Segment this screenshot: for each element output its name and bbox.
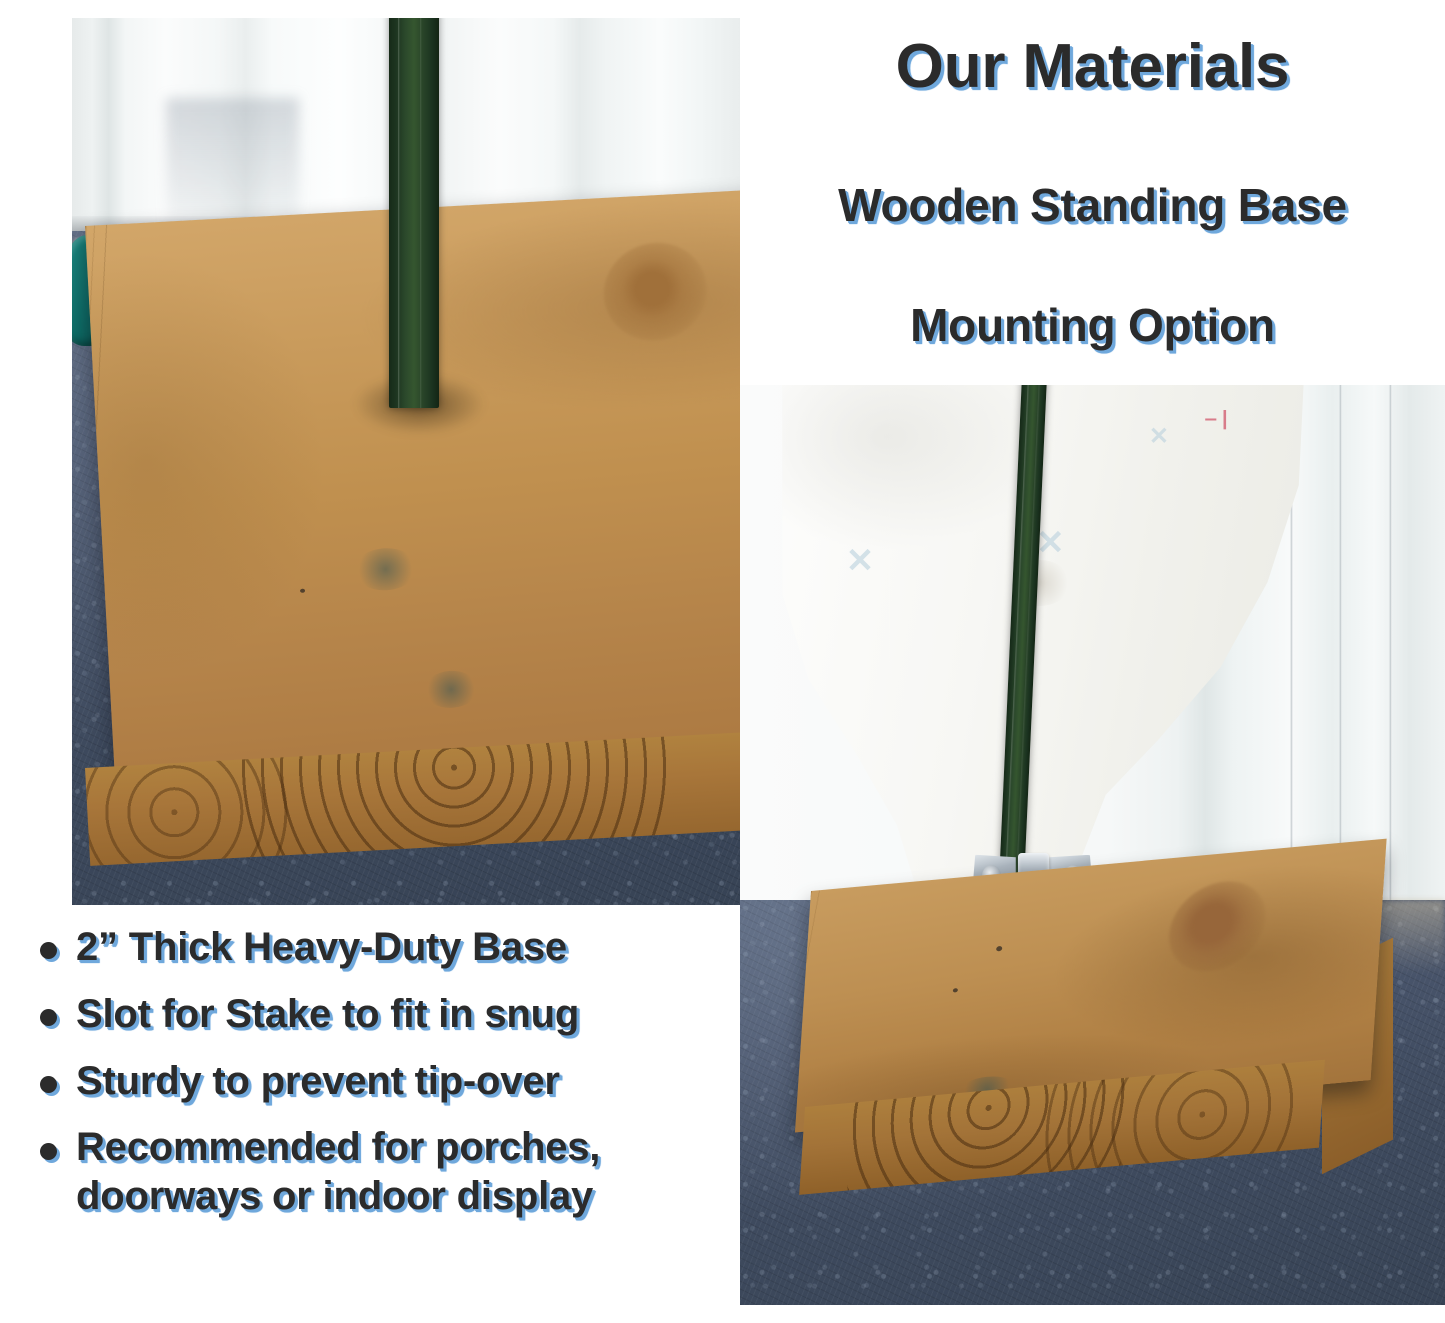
list-item: 2” Thick Heavy-Duty Base xyxy=(62,923,752,972)
page-title: Our Materials xyxy=(740,34,1445,99)
bottom-strip-panel xyxy=(740,1305,1445,1323)
list-item: Sturdy to prevent tip-over xyxy=(62,1057,752,1106)
left-margin-panel xyxy=(0,0,72,905)
stake-ridge xyxy=(420,18,422,408)
pencil-x-mark: ✕ xyxy=(846,541,875,581)
list-item: Slot for Stake to fit in snug xyxy=(62,990,752,1039)
red-pencil-mark: ‒ | xyxy=(1205,408,1227,431)
subtitle-line-1: Wooden Standing Base xyxy=(740,180,1445,231)
list-item: Recommended for porches, doorways or ind… xyxy=(62,1123,752,1221)
pencil-x-mark: ✕ xyxy=(1149,422,1169,451)
photo-wooden-base-closeup xyxy=(72,18,740,905)
stake-ridge xyxy=(398,18,400,408)
product-materials-graphic: ✕ ✕ ✕ ‒ | xyxy=(0,0,1445,1323)
features-panel: 2” Thick Heavy-Duty Base Slot for Stake … xyxy=(0,905,740,1323)
subtitle-line-2: Mounting Option xyxy=(740,300,1445,351)
green-metal-stake xyxy=(389,18,438,408)
wood-speck xyxy=(995,946,1001,952)
pencil-x-mark: ✕ xyxy=(1036,523,1065,563)
photo-mounted-sign-on-base: ✕ ✕ ✕ ‒ | xyxy=(740,385,1445,1305)
header-panel: Our Materials Wooden Standing Base Mount… xyxy=(740,0,1445,385)
feature-list: 2” Thick Heavy-Duty Base Slot for Stake … xyxy=(28,923,752,1239)
